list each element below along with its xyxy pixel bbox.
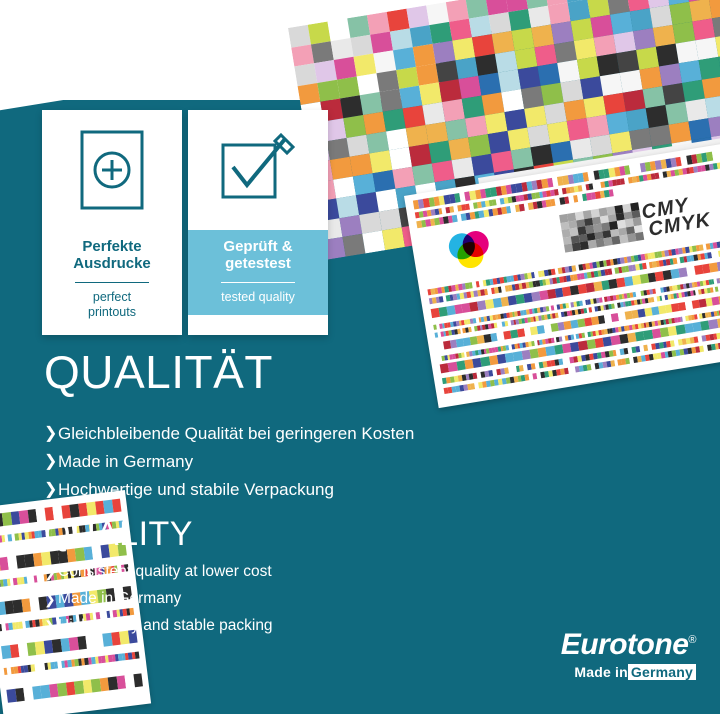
document-plus-icon bbox=[42, 110, 182, 230]
registered-mark: ® bbox=[688, 634, 696, 646]
heading-german: QUALITÄT bbox=[44, 347, 273, 397]
bullet-item: ❯High quality and stable packing bbox=[44, 616, 273, 636]
tagline-in: in bbox=[615, 664, 628, 680]
bullet-list-english: ❯Consistent quality at lower cost❯Made i… bbox=[44, 562, 273, 643]
heading-english: QUALITY bbox=[44, 515, 193, 553]
bullet-item: ❯Made in Germany bbox=[44, 451, 414, 472]
bullet-text: Made in Germany bbox=[58, 589, 181, 609]
brand-logo: Eurotone® Made inGermany bbox=[561, 624, 696, 680]
chevron-right-icon: ❯ bbox=[44, 423, 58, 444]
bullet-list-german: ❯Gleichbleibende Qualität bei geringeren… bbox=[44, 423, 414, 507]
card-divider bbox=[75, 282, 149, 283]
bullet-item: ❯Gleichbleibende Qualität bei geringeren… bbox=[44, 423, 414, 444]
chevron-right-icon: ❯ bbox=[44, 616, 58, 636]
brand-name-text: Eurotone bbox=[561, 628, 689, 661]
card-title-line2: Ausdrucke bbox=[73, 255, 151, 272]
card-text-block: Geprüft & getestest tested quality bbox=[188, 230, 328, 315]
card-title-line2: getestest bbox=[225, 255, 291, 272]
bullet-item: ❯Consistent quality at lower cost bbox=[44, 562, 273, 582]
feature-card-tested-quality: Geprüft & getestest tested quality bbox=[188, 110, 328, 335]
bullet-text: Made in Germany bbox=[58, 451, 193, 472]
card-title-line1: Geprüft & bbox=[223, 238, 292, 255]
bullet-item: ❯Made in Germany bbox=[44, 589, 273, 609]
tagline-germany: Germany bbox=[628, 664, 696, 680]
bullet-text: Gleichbleibende Qualität bei geringeren … bbox=[58, 423, 414, 444]
chevron-right-icon: ❯ bbox=[44, 479, 58, 500]
checkbox-pen-icon bbox=[188, 110, 328, 230]
poster-canvas: CMY CMYK Perfekte Ausdrucke perfect prin… bbox=[0, 0, 720, 714]
chevron-right-icon: ❯ bbox=[44, 451, 58, 472]
tagline-made: Made bbox=[574, 664, 611, 680]
bullet-item: ❯Hochwertige und stabile Verpackung bbox=[44, 479, 414, 500]
card-sub-line1: tested quality bbox=[221, 290, 295, 304]
color-swatch bbox=[705, 95, 720, 118]
card-divider bbox=[221, 282, 295, 283]
grayscale-patch-grid bbox=[559, 202, 644, 252]
feature-card-perfect-printouts: Perfekte Ausdrucke perfect printouts bbox=[42, 110, 182, 335]
color-swatch bbox=[708, 115, 720, 138]
chevron-right-icon: ❯ bbox=[44, 562, 58, 582]
chevron-right-icon: ❯ bbox=[44, 589, 58, 609]
brand-name: Eurotone® bbox=[561, 624, 696, 661]
color-swatch bbox=[702, 76, 720, 99]
card-text-block: Perfekte Ausdrucke perfect printouts bbox=[42, 230, 182, 330]
bullet-text: Consistent quality at lower cost bbox=[58, 562, 272, 582]
card-title-line1: Perfekte bbox=[82, 238, 141, 255]
brand-tagline: Made inGermany bbox=[561, 664, 696, 680]
card-sub-line2: printouts bbox=[88, 305, 136, 319]
card-sub-line1: perfect bbox=[93, 290, 131, 304]
bullet-text: High quality and stable packing bbox=[58, 616, 273, 636]
bullet-text: Hochwertige und stabile Verpackung bbox=[58, 479, 334, 500]
test-color-bar-row bbox=[6, 673, 143, 702]
